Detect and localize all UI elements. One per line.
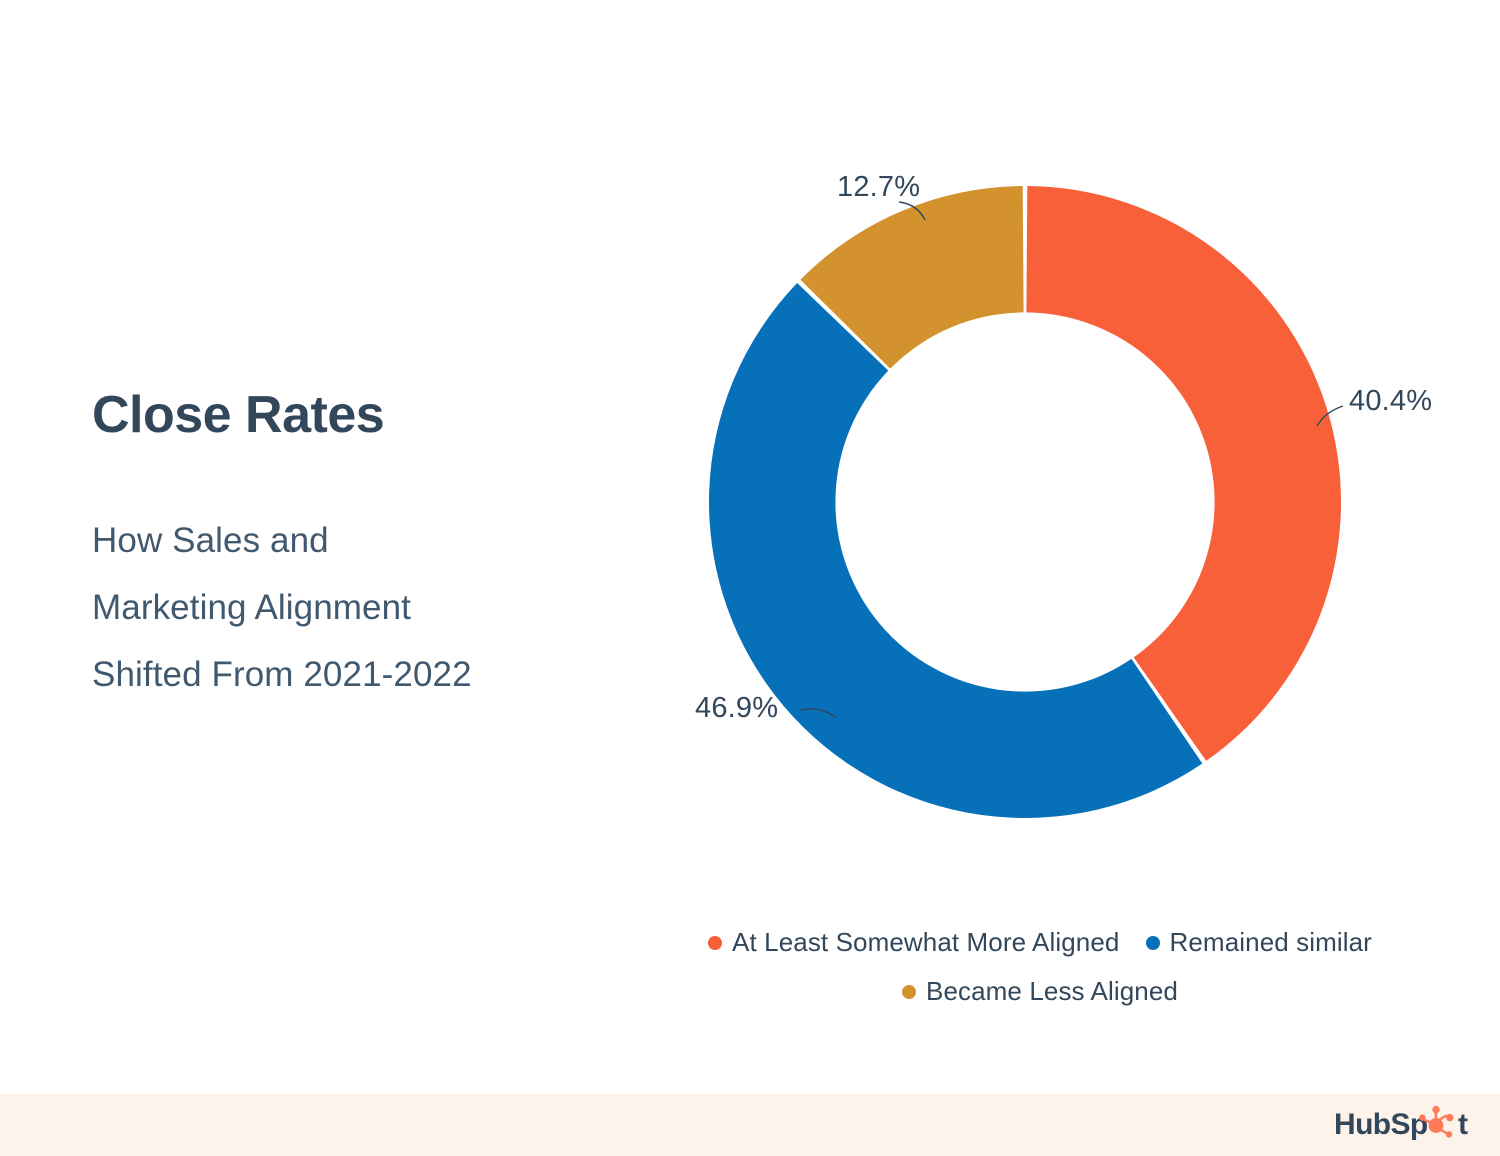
legend-swatch-dot-icon <box>902 985 916 999</box>
page-subtitle: How Sales and Marketing Alignment Shifte… <box>92 507 652 709</box>
hubspot-logo: HubSp t <box>1334 1102 1472 1146</box>
chart-legend: At Least Somewhat More AlignedRemained s… <box>645 918 1435 1017</box>
legend-row-secondary: Became Less Aligned <box>645 967 1435 1016</box>
donut-slice <box>1026 186 1341 761</box>
legend-item[interactable]: Remained similar <box>1146 918 1372 967</box>
hubspot-wordmark-part1: HubSp <box>1334 1108 1428 1141</box>
legend-item-label: Remained similar <box>1170 918 1372 967</box>
legend-item-label: At Least Somewhat More Aligned <box>732 918 1119 967</box>
text-panel: Close Rates How Sales and Marketing Alig… <box>92 388 652 708</box>
slice-label-became-less-aligned: 12.7% <box>837 171 920 203</box>
legend-item[interactable]: Became Less Aligned <box>902 967 1178 1016</box>
slide-canvas: Close Rates How Sales and Marketing Alig… <box>0 0 1500 1156</box>
legend-row-primary: At Least Somewhat More AlignedRemained s… <box>645 918 1435 967</box>
donut-chart: 12.7% 40.4% 46.9% <box>645 140 1435 880</box>
donut-chart-svg: 12.7% 40.4% 46.9% <box>645 140 1435 880</box>
donut-slice <box>709 283 1202 818</box>
slice-label-remained-similar: 46.9% <box>695 692 778 724</box>
legend-item[interactable]: At Least Somewhat More Aligned <box>708 918 1119 967</box>
page-title: Close Rates <box>92 388 652 443</box>
donut-slices <box>709 186 1341 818</box>
hubspot-wordmark-part2: t <box>1458 1108 1468 1141</box>
slice-label-more-aligned: 40.4% <box>1349 385 1432 417</box>
legend-swatch-dot-icon <box>708 936 722 950</box>
legend-item-label: Became Less Aligned <box>926 967 1178 1016</box>
legend-swatch-dot-icon <box>1146 936 1160 950</box>
footer-band <box>0 1094 1500 1156</box>
hubspot-logo-svg: HubSp t <box>1334 1105 1472 1143</box>
